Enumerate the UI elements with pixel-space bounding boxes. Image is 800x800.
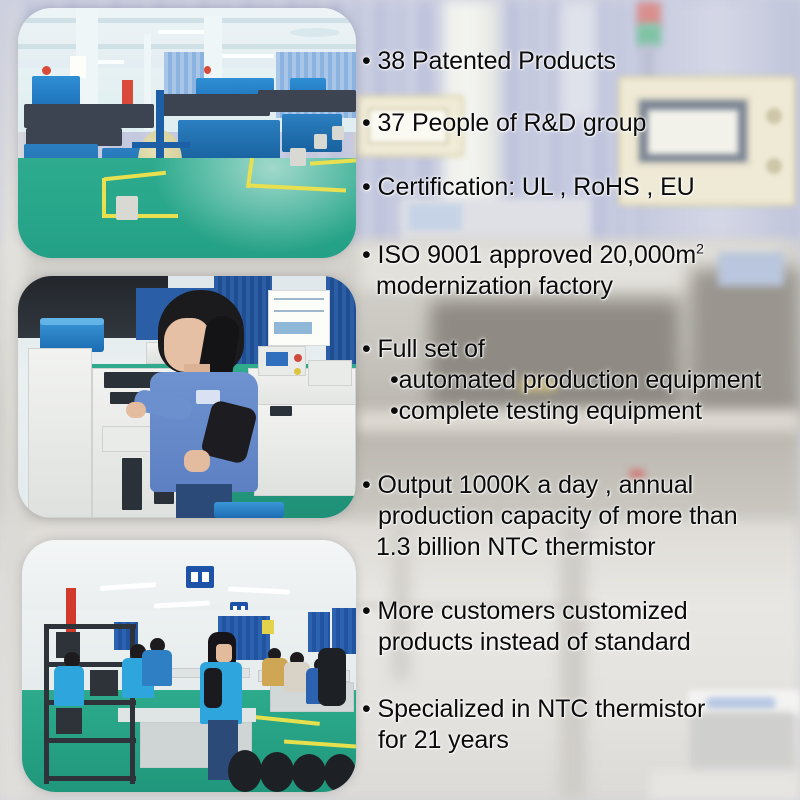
bullet-line: •complete testing equipment (362, 396, 800, 427)
photo1-wire-spool (290, 148, 306, 166)
photo1-alarm-light (204, 66, 211, 74)
photo1-wire-spool (332, 126, 344, 140)
photo-operator-at-machine (18, 276, 356, 518)
bullet-line: • ISO 9001 approved 20,000m2 (362, 240, 800, 271)
photo2-machine-cabinet (28, 348, 92, 518)
bullet-iso-factory: • ISO 9001 approved 20,000m2modernizatio… (362, 240, 800, 302)
photo1-ceiling-beam (18, 44, 356, 49)
photo3-ceiling-sign (186, 566, 214, 588)
bullet-line: for 21 years (362, 725, 800, 756)
superscript: 2 (696, 241, 704, 257)
photo2-board-chart (274, 322, 312, 334)
photo1-lane-marking (102, 214, 178, 218)
bullet-output-capacity: • Output 1000K a day , annualproduction … (362, 470, 800, 563)
photo2-breaker-panel (308, 360, 352, 386)
photo2-right-machine-body (254, 404, 356, 496)
photo-assembly-line-workers (22, 540, 356, 792)
photo2-right-machine-handle (270, 406, 292, 416)
photo1-machine-heads (24, 104, 154, 128)
bullet-certification: • Certification: UL , RoHS , EU (362, 172, 800, 203)
bullet-line: products instead of standard (362, 627, 800, 658)
photo1-alarm-light (42, 66, 51, 75)
photo1-lane-marking (102, 178, 106, 218)
photo1-notice (70, 56, 86, 78)
photo2-machine-block (122, 458, 142, 510)
bullet-line: • 38 Patented Products (362, 46, 800, 77)
photo2-control-button-yellow (294, 368, 301, 375)
bullet-line: •automated production equipment (362, 365, 800, 396)
photo3-worker-front-face (216, 644, 232, 662)
bullet-rd-group: • 37 People of R&D group (362, 108, 800, 139)
photo3-worker-bench-shirt (142, 650, 172, 686)
photo3-coil-reel (228, 750, 262, 792)
photo3-blue-blind (308, 612, 330, 652)
photo3-coil-reel (324, 754, 356, 792)
photo3-rack-shelf (44, 738, 136, 743)
photo1-light-tube (218, 54, 274, 58)
bullet-line: • Specialized in NTC thermistor (362, 694, 800, 725)
photo1-blue-crossbar (132, 142, 190, 148)
photo3-worker-far-left-shirt (54, 666, 84, 706)
photo3-rack-shelf (44, 624, 136, 629)
photo2-board-line (274, 298, 324, 300)
photo1-wire-spool (116, 196, 138, 220)
feature-bullet-list: • 38 Patented Products• 37 People of R&D… (362, 0, 800, 800)
photo-factory-machine-hall (18, 8, 356, 258)
photo1-ceiling-fan (290, 28, 340, 37)
photo2-control-screen (266, 352, 288, 366)
bullet-line: • 37 People of R&D group (362, 108, 800, 139)
photo3-coil-reel (260, 752, 294, 792)
bullet-line: • Output 1000K a day , annual (362, 470, 800, 501)
photo3-rack-tray (90, 670, 118, 696)
photo3-warning-sign (262, 620, 274, 634)
photo1-machine-heads (160, 94, 270, 116)
photo1-wire-spool (314, 134, 327, 149)
bullet-customized-products: • More customers customizedproducts inst… (362, 596, 800, 658)
photo2-blue-crate-lower (214, 502, 284, 518)
bullet-line: • Certification: UL , RoHS , EU (362, 172, 800, 203)
photo3-rack-shelf (44, 776, 136, 781)
photo2-board-line (274, 310, 324, 312)
bullet-line: 1.3 billion NTC thermistor (362, 532, 800, 563)
photo2-operator-hand-2 (184, 450, 210, 472)
photo1-machine-base (178, 120, 280, 162)
bullet-full-set: • Full set of•automated production equip… (362, 334, 800, 427)
photo3-coil-reel (292, 754, 326, 792)
photo2-blue-crate-rim (40, 318, 104, 325)
bullet-specialized-ntc: • Specialized in NTC thermistorfor 21 ye… (362, 694, 800, 756)
bullet-line: • More customers customized (362, 596, 800, 627)
bullet-line: production capacity of more than (362, 501, 800, 532)
bullet-line: • Full set of (362, 334, 800, 365)
photo3-worker-front-sleeve (204, 668, 222, 708)
photo3-rack-tray (56, 708, 82, 734)
photo3-hanging-coil (318, 648, 346, 706)
photo1-ceiling-beam (18, 18, 356, 23)
bullet-line: modernization factory (362, 271, 800, 302)
photo1-machine-heads (258, 90, 356, 112)
bullet-patented-products: • 38 Patented Products (362, 46, 800, 77)
photo2-control-button-red (294, 354, 302, 362)
photo2-operator-hand (126, 402, 146, 418)
